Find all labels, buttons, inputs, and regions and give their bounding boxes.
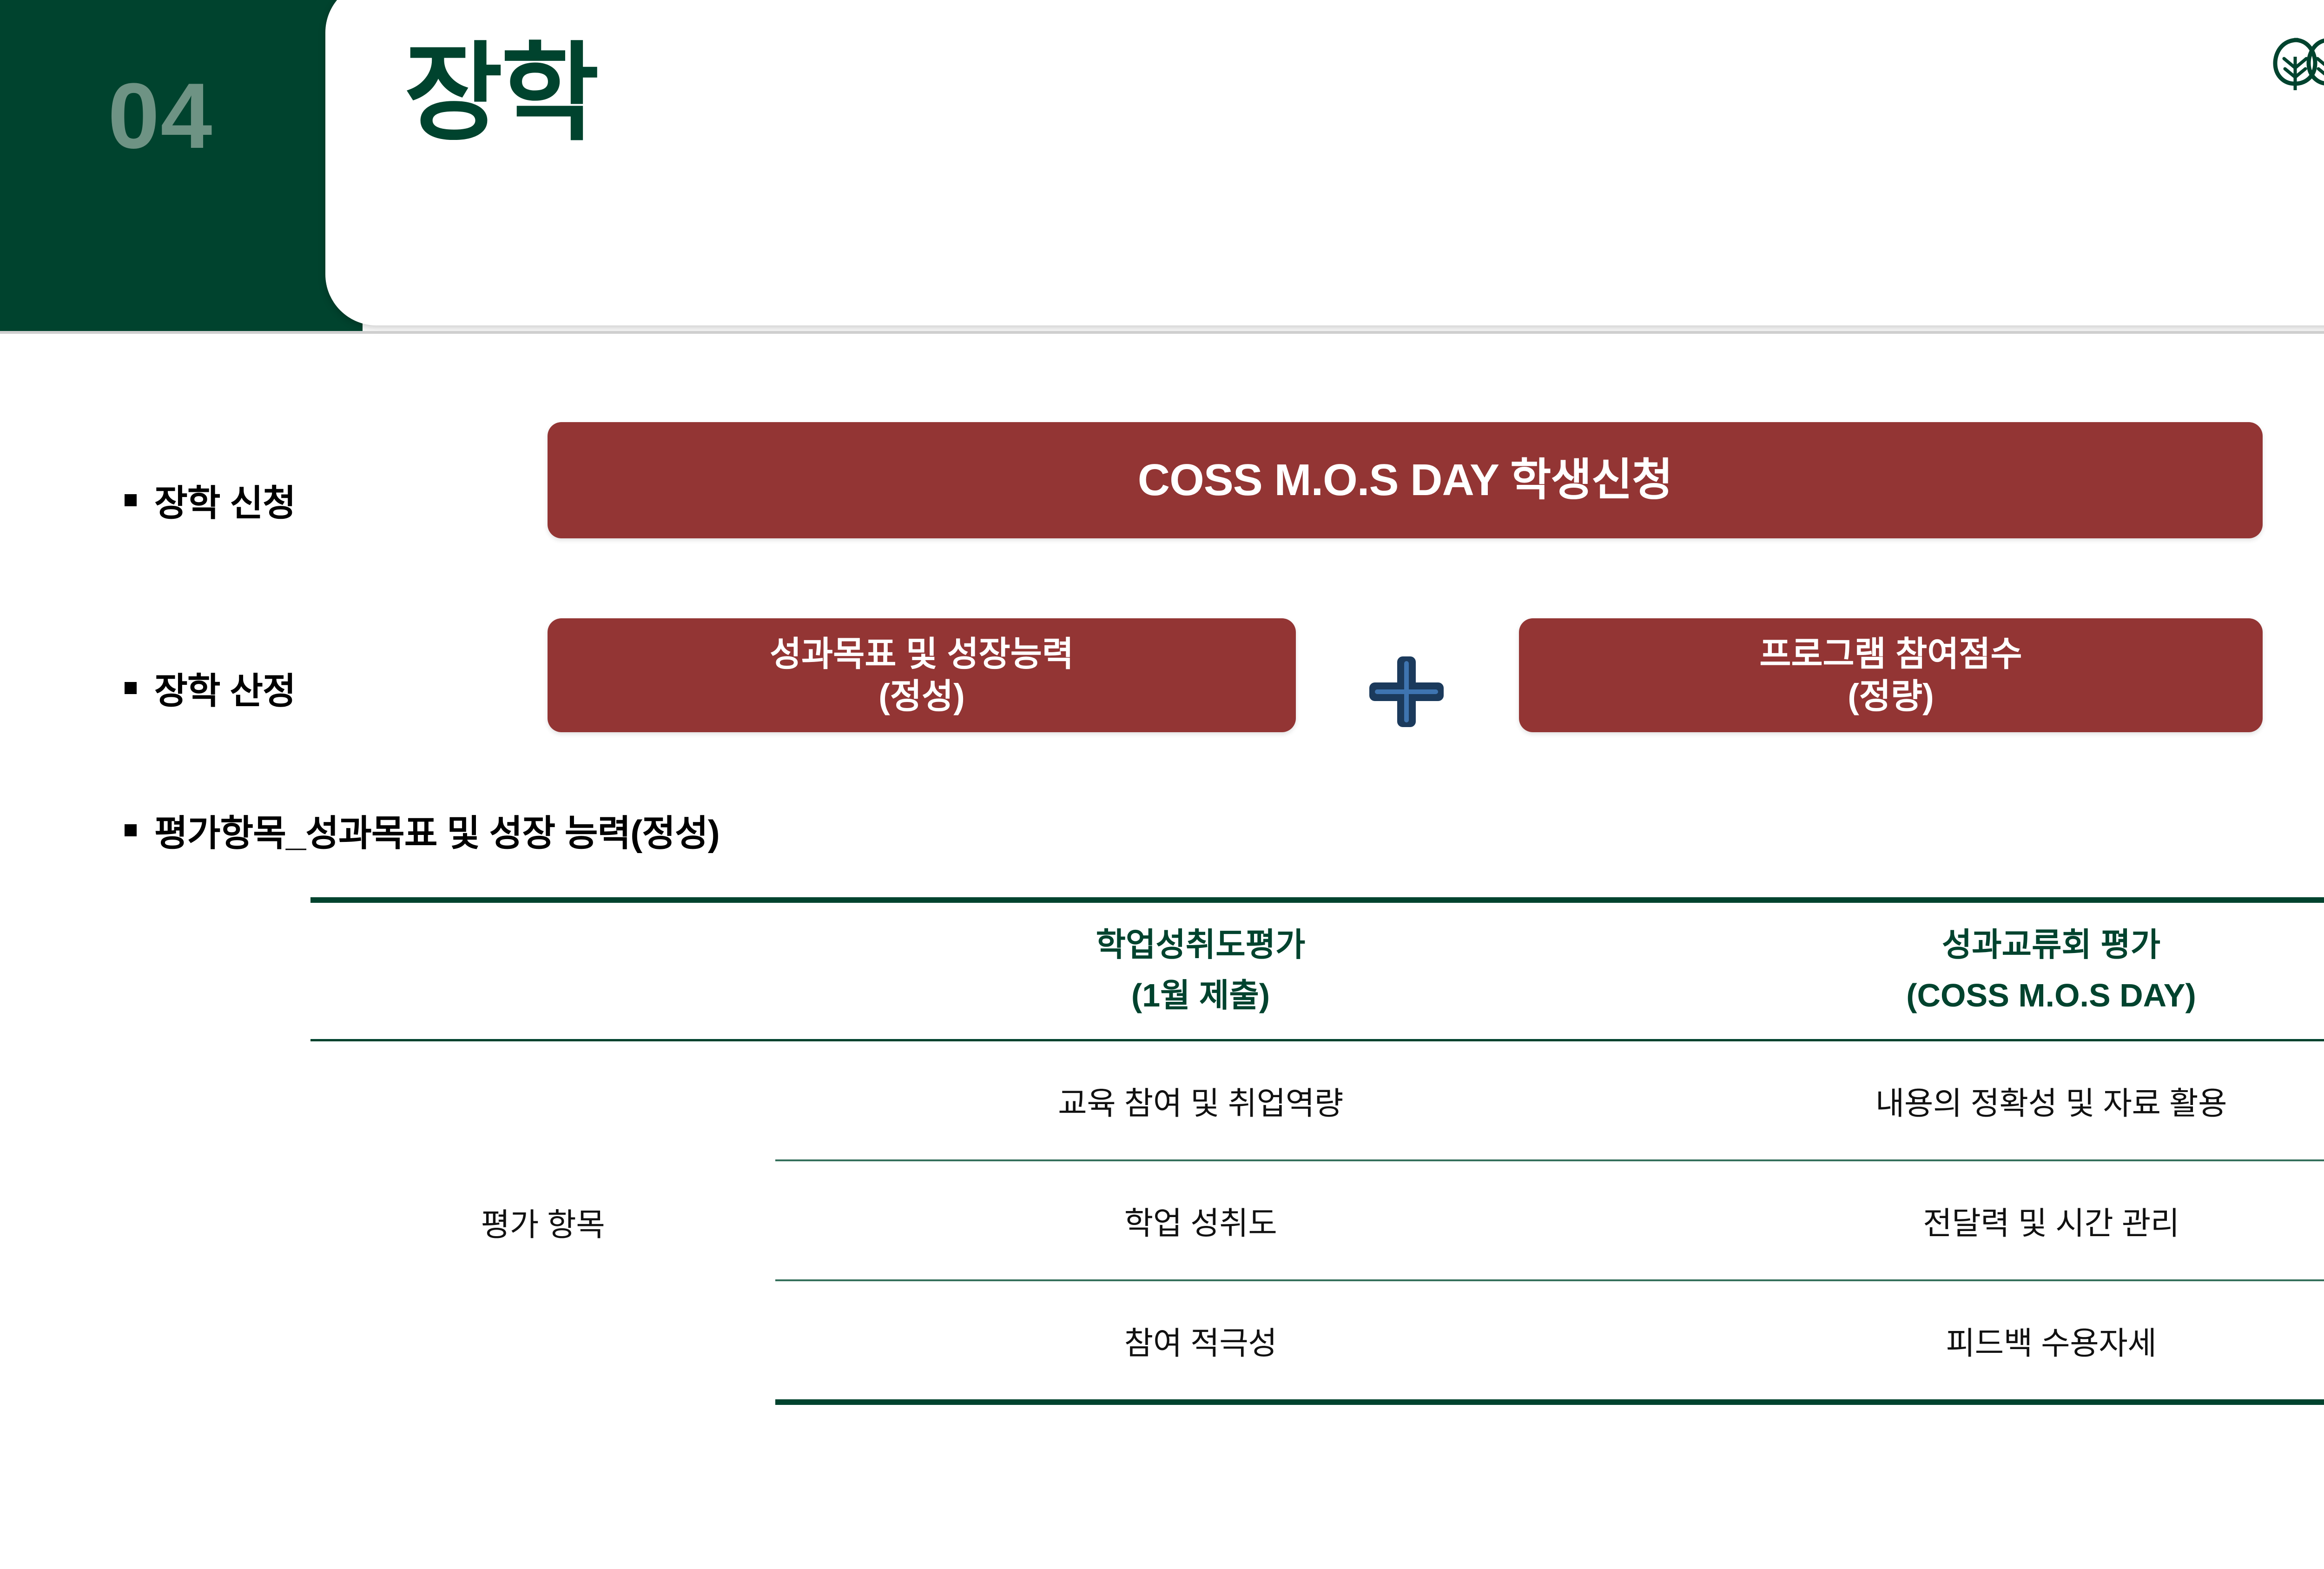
qualitative-line2: (정성)	[770, 675, 1074, 717]
slide-header: 04 장학	[0, 0, 2324, 334]
col2-subtitle: (COSS M.O.S DAY)	[1631, 970, 2324, 1021]
header-white-panel	[325, 0, 2324, 325]
score-box-quantitative[interactable]: 프로그램 참여점수 (정량)	[1519, 618, 2263, 732]
quantitative-line2: (정량)	[1759, 675, 2022, 717]
table-cell-r3c1: 참여 적극성	[775, 1280, 1626, 1402]
bullet-square-icon	[125, 682, 137, 694]
plus-icon	[1366, 653, 1447, 731]
header-divider	[0, 331, 2324, 334]
table-header-col2: 성과교류회 평가 (COSS M.O.S DAY)	[1626, 900, 2324, 1040]
col2-title: 성과교류회 평가	[1942, 927, 2160, 963]
table-header-row: 학업성취도평가 (1월 제출) 성과교류회 평가 (COSS M.O.S DAY…	[310, 900, 2324, 1040]
table-row-label: 평가 항목	[310, 1040, 775, 1403]
brand-logo: GREEN BIO COSS	[2269, 33, 2324, 93]
bullet-label-criteria: 평가항목_성과목표 및 성장 능력(정성)	[154, 804, 720, 856]
table-cell-r1c1: 교육 참여 및 취업역량	[775, 1040, 1626, 1161]
table-row: 평가 항목 교육 참여 및 취업역량 내용의 정확성 및 자료 활용	[310, 1040, 2324, 1161]
table-cell-r2c1: 학업 성취도	[775, 1160, 1626, 1280]
bullet-scholarship-calculate: 장학 산정	[125, 662, 296, 714]
bullet-evaluation-criteria: 평가항목_성과목표 및 성장 능력(정성)	[125, 804, 720, 856]
table-header-col1: 학업성취도평가 (1월 제출)	[775, 900, 1626, 1040]
two-sprout-trees-icon	[2269, 33, 2324, 93]
banner-label: COSS M.O.S DAY 학생신청	[1138, 453, 1673, 507]
page-title: 장학	[404, 37, 597, 150]
bullet-square-icon	[125, 494, 137, 506]
table-header-blank	[310, 900, 775, 1040]
section-number: 04	[108, 70, 303, 163]
col1-title: 학업성취도평가	[1096, 927, 1306, 963]
bullet-label-apply: 장학 신청	[154, 474, 296, 526]
qualitative-line1: 성과목표 및 성장능력	[770, 633, 1074, 675]
bullet-square-icon	[125, 824, 137, 836]
bullet-label-calculate: 장학 산정	[154, 662, 296, 714]
banner-mos-day-apply[interactable]: COSS M.O.S DAY 학생신청	[548, 422, 2263, 538]
evaluation-criteria-table: 학업성취도평가 (1월 제출) 성과교류회 평가 (COSS M.O.S DAY…	[310, 897, 2324, 1405]
table-cell-r1c2: 내용의 정확성 및 자료 활용	[1626, 1040, 2324, 1161]
table-cell-r2c2: 전달력 및 시간 관리	[1626, 1160, 2324, 1280]
col1-subtitle: (1월 제출)	[780, 970, 1621, 1021]
quantitative-line1: 프로그램 참여점수	[1759, 633, 2022, 675]
bullet-scholarship-apply: 장학 신청	[125, 474, 296, 526]
table-cell-r3c2: 피드백 수용자세	[1626, 1280, 2324, 1402]
score-box-qualitative[interactable]: 성과목표 및 성장능력 (정성)	[548, 618, 1296, 732]
